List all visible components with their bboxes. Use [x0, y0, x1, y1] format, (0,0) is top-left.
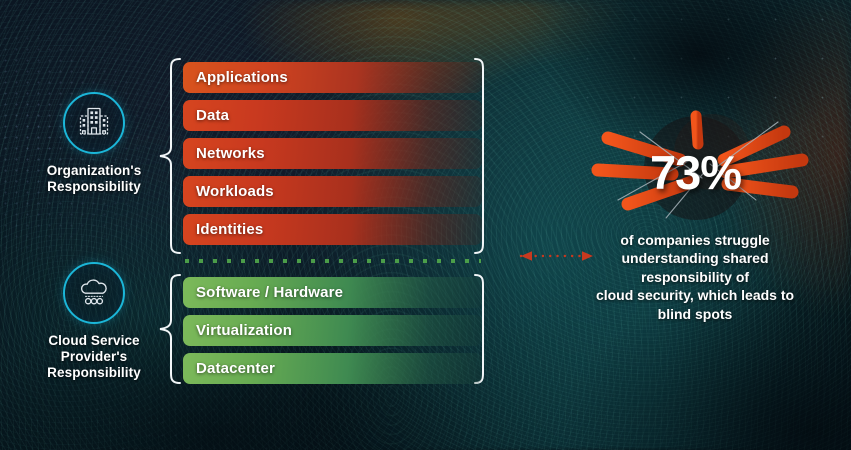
organization-caption-line-2: Responsibility [14, 179, 174, 195]
layer-bar-identities[interactable]: Identities [183, 214, 482, 245]
layer-bar-workloads[interactable]: Workloads [183, 176, 482, 207]
infographic-canvas: Organization's Responsibility Cloud Serv… [0, 0, 851, 450]
organization-caption-line-1: Organization's [14, 163, 174, 179]
provider-caption-line-1: Cloud Service [14, 333, 174, 349]
statistic-line-1: of companies struggle [545, 231, 845, 249]
statistic-line-2: understanding shared [545, 249, 845, 267]
organization-responsibility-group: Organization's Responsibility [14, 92, 174, 195]
statistic-line-4: cloud security, which leads to [545, 286, 845, 304]
layer-bar-virtualization[interactable]: Virtualization [183, 315, 482, 346]
statistic-line-5: blind spots [545, 305, 845, 323]
layer-label-virtualization: Virtualization [196, 322, 292, 339]
layer-label-data: Data [196, 107, 229, 124]
layer-label-applications: Applications [196, 69, 288, 86]
layer-label-identities: Identities [196, 221, 263, 238]
provider-caption-line-2: Provider's [14, 349, 174, 365]
provider-caption: Cloud Service Provider's Responsibility [14, 333, 174, 381]
layer-bar-datacenter[interactable]: Datacenter [183, 353, 482, 384]
provider-icon-ring [63, 262, 125, 324]
layer-label-datacenter: Datacenter [196, 360, 275, 377]
layer-bar-applications[interactable]: Applications [183, 62, 482, 93]
organization-caption: Organization's Responsibility [14, 163, 174, 195]
layer-bar-software-hardware[interactable]: Software / Hardware [183, 277, 482, 308]
statistic-percentage: 73% [540, 145, 851, 200]
provider-left-brace [156, 272, 184, 386]
responsibility-divider [185, 259, 481, 263]
provider-responsibility-group: Cloud Service Provider's Responsibility [14, 262, 174, 381]
organization-icon-ring [63, 92, 125, 154]
layer-label-networks: Networks [196, 145, 265, 162]
organization-left-brace [156, 56, 184, 256]
statistic-description: of companies struggle understanding shar… [545, 231, 845, 323]
cloud-icon [75, 275, 113, 312]
layer-label-workloads: Workloads [196, 183, 274, 200]
statistic-line-3: responsibility of [545, 268, 845, 286]
layer-bar-networks[interactable]: Networks [183, 138, 482, 169]
layer-label-software-hardware: Software / Hardware [196, 284, 343, 301]
office-building-icon [77, 105, 111, 142]
provider-caption-line-3: Responsibility [14, 365, 174, 381]
layer-bar-data[interactable]: Data [183, 100, 482, 131]
